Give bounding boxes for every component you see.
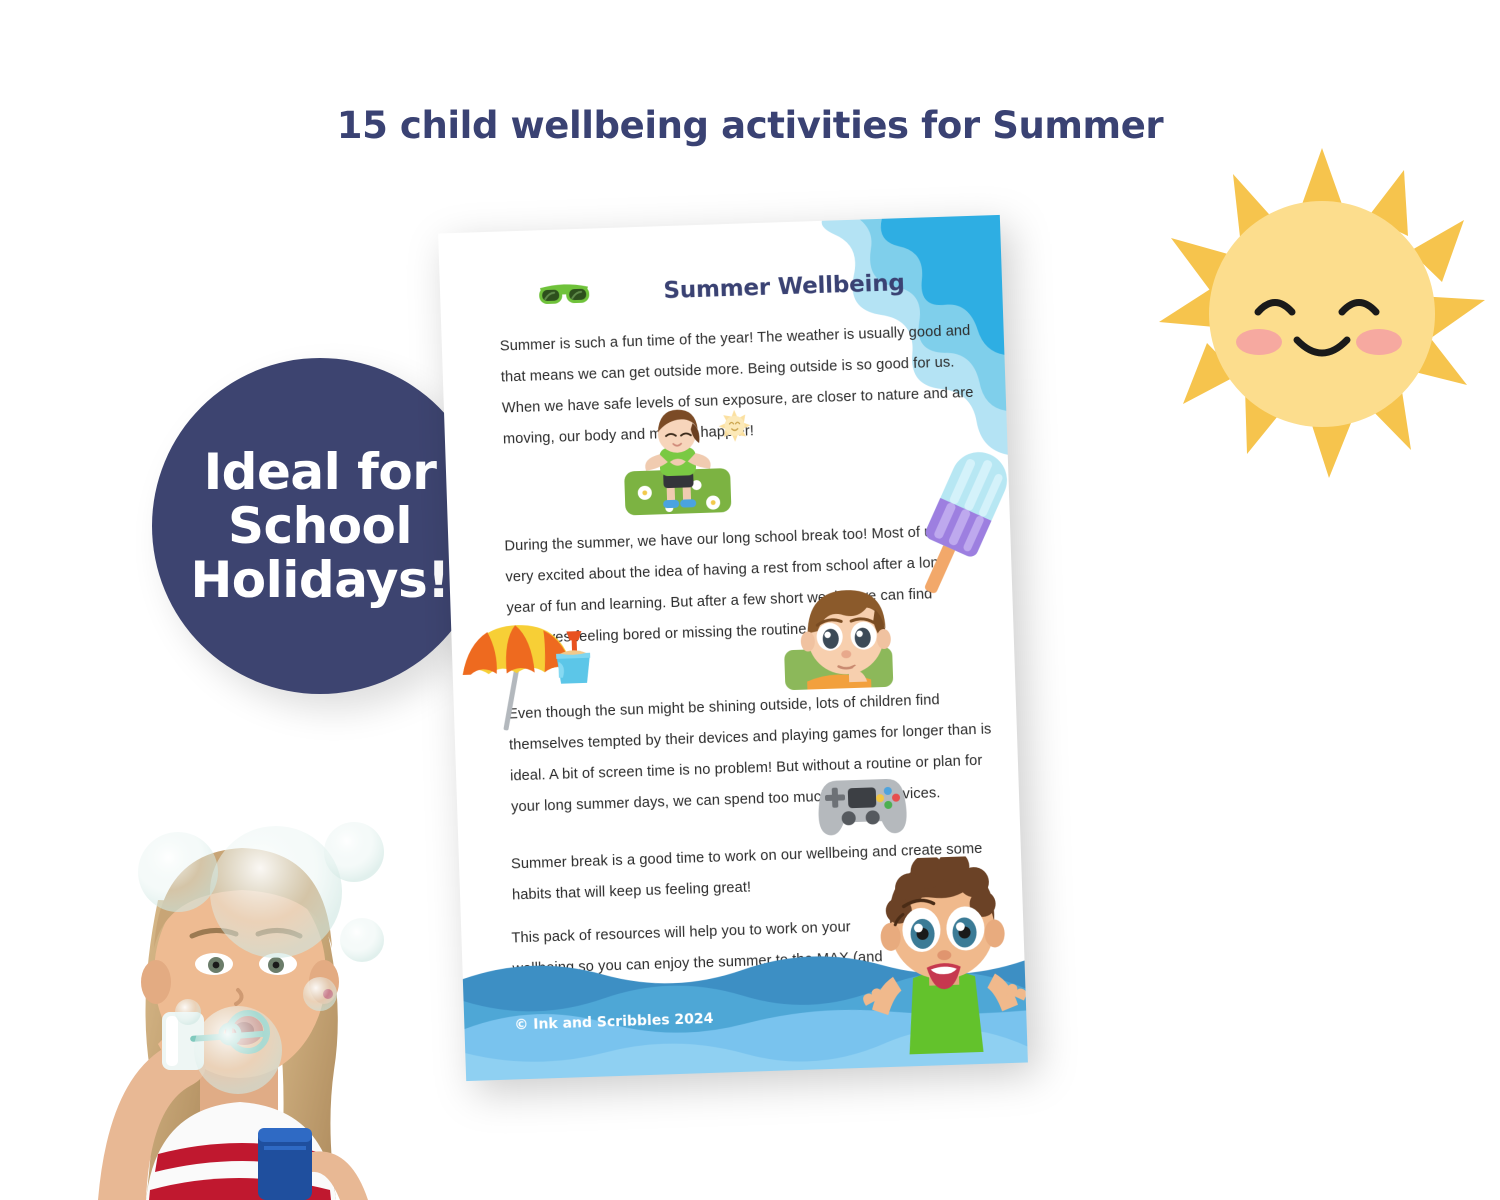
worksheet-page[interactable]: Summer Wellbeing Summer is such a fun ti… — [438, 215, 1028, 1081]
poster-canvas: 15 child wellbeing activities for Summer — [0, 0, 1500, 1200]
bored-boy-illustration — [782, 586, 909, 690]
sand-bucket-icon — [549, 629, 597, 686]
yoga-kid-illustration — [620, 405, 756, 519]
badge-line-2: School — [190, 499, 449, 553]
sheet-title: Summer Wellbeing — [663, 270, 905, 304]
girl-blowing-bubbles-photo — [62, 798, 414, 1200]
paragraph-3: Even though the sun might be shining out… — [508, 683, 996, 823]
ideal-for-school-holidays-badge: Ideal for School Holidays! — [152, 358, 488, 694]
badge-line-3: Holidays! — [190, 553, 449, 607]
sun-icon — [1157, 142, 1487, 482]
ice-pop-icon — [915, 433, 1017, 606]
game-controller-icon — [814, 770, 910, 839]
girl-illustration — [855, 854, 1028, 1056]
page-title: 15 child wellbeing activities for Summer — [0, 104, 1500, 147]
badge-line-1: Ideal for — [190, 445, 449, 499]
sunglasses-icon — [537, 281, 592, 309]
